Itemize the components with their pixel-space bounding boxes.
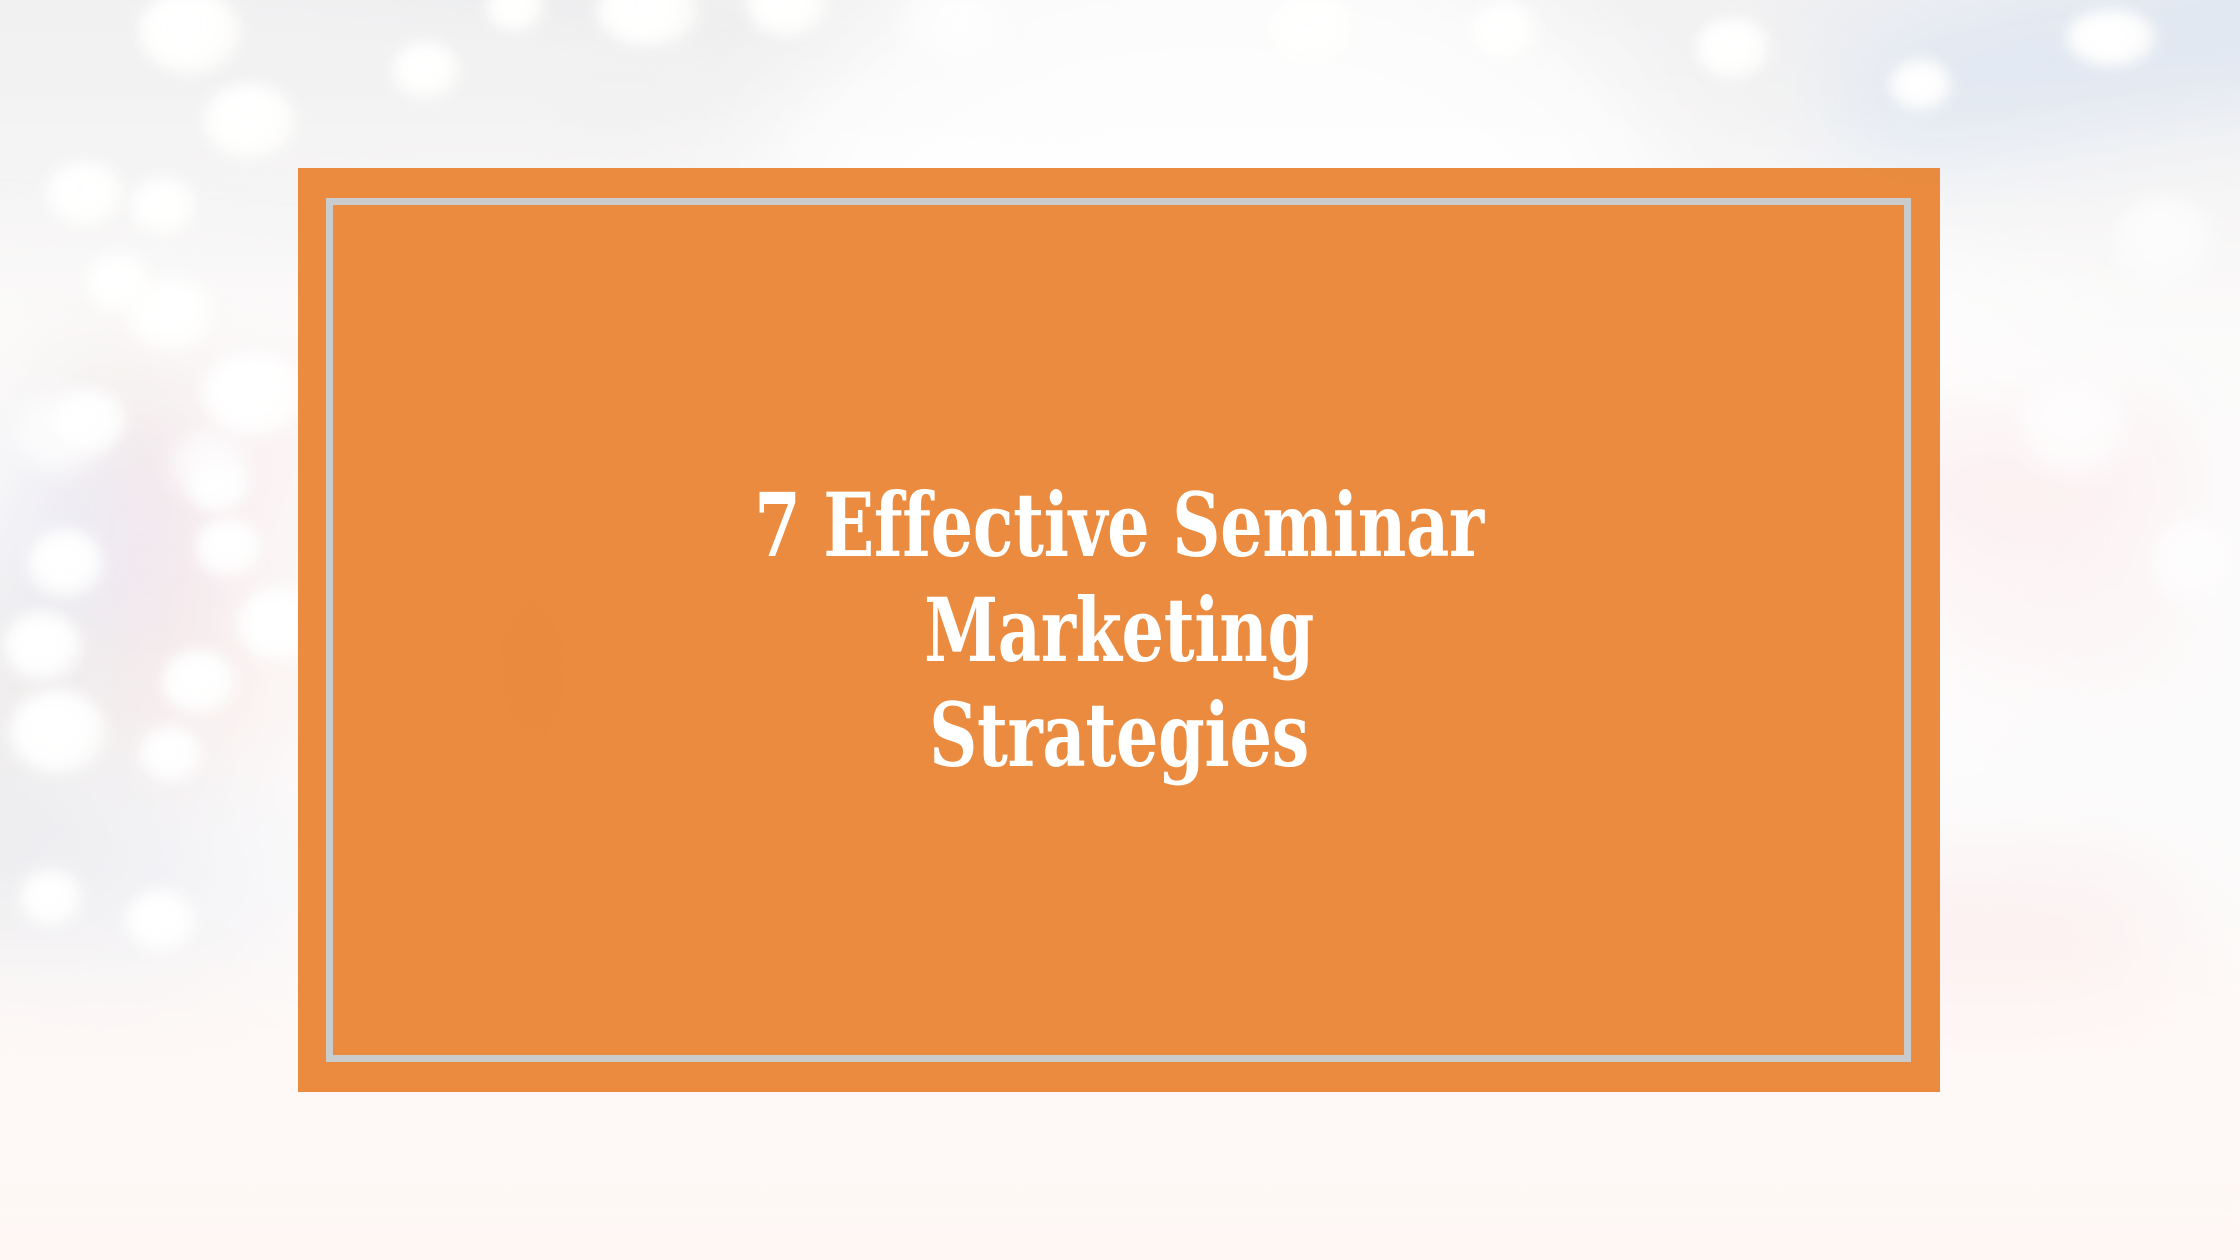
card-title-container: 7 Effective Seminar Marketing Strategies (298, 168, 1940, 1092)
slide-canvas: 7 Effective Seminar Marketing Strategies (0, 0, 2240, 1260)
title-card: 7 Effective Seminar Marketing Strategies (298, 168, 1940, 1092)
page-title: 7 Effective Seminar Marketing Strategies (671, 473, 1568, 788)
